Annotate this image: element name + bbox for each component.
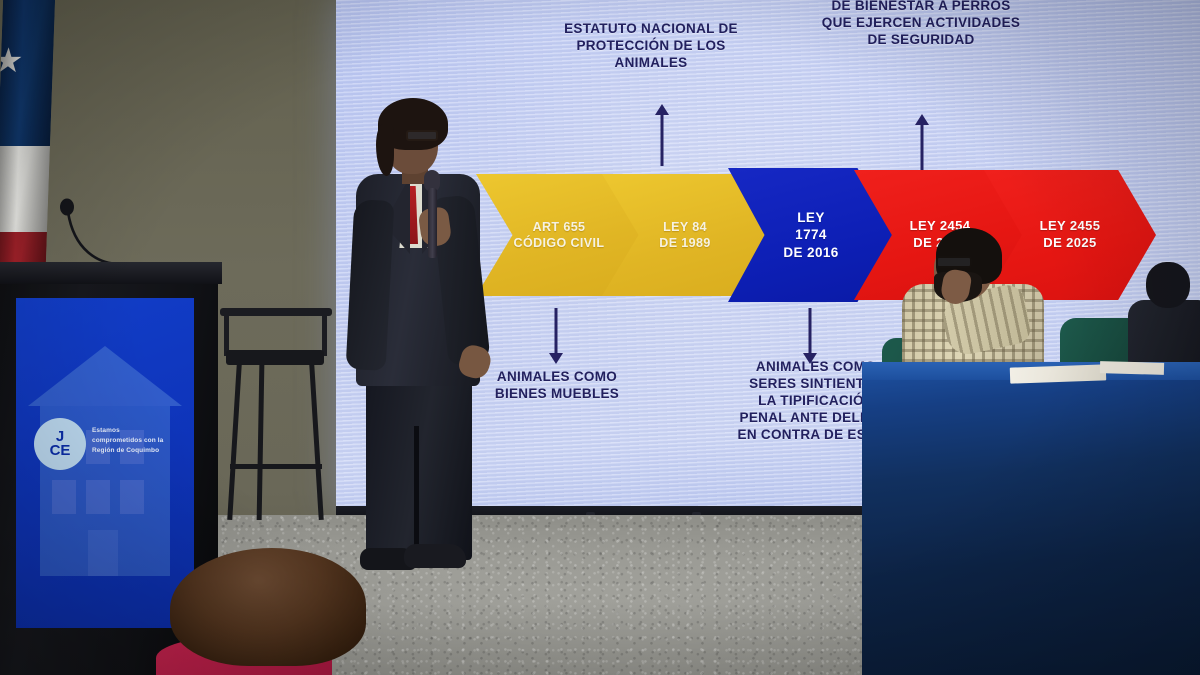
chevron-line: DE 2016: [783, 244, 838, 261]
podium-tagline: Estamos comprometidos con la Región de C…: [92, 426, 190, 456]
callout-line: ESTATUTO NACIONAL DE: [536, 20, 766, 37]
callout-line: DE SEGURIDAD: [806, 31, 1036, 48]
speaker-hair-side: [376, 124, 394, 176]
handheld-microphone-icon: [424, 170, 440, 258]
stool-rung: [230, 464, 322, 469]
audience-member-hair: [170, 548, 366, 666]
chevron-line: LEY 84: [663, 219, 707, 235]
arrow-down-bienes-muebles: [548, 308, 564, 364]
chevron-line: DE 1989: [659, 235, 710, 251]
podium-tagline-line: comprometidos con la: [92, 436, 190, 446]
arrow-up-estatuto: [654, 104, 670, 166]
callout-line: DE BIENESTAR A PERROS: [806, 0, 1036, 14]
second-panelist-head: [1146, 262, 1190, 308]
conference-photo-scene: ESTATUTO NACIONAL DE PROTECCIÓN DE LOS A…: [0, 0, 1200, 675]
chevron-line: LEY: [797, 209, 824, 226]
podium-top-surface: [0, 262, 222, 284]
panel-table-blue-drape: [862, 370, 1200, 675]
speaker-at-microphone: [344, 96, 534, 592]
mic-handle: [428, 188, 437, 258]
arrow-down-seres-sintientes: [802, 308, 818, 364]
jce-logo: J CE: [34, 418, 86, 470]
panelist-glasses-icon: [936, 256, 972, 268]
papers-on-table: [1010, 364, 1106, 383]
chevron-line: ART 655: [533, 219, 586, 235]
stool-leg: [227, 364, 242, 520]
papers-on-table: [1100, 361, 1164, 375]
speaker-shoe: [404, 544, 466, 568]
chevron-line: 1774: [795, 226, 827, 243]
arrow-up-proteccion-perros: [914, 114, 930, 170]
stool-back-post: [322, 312, 327, 356]
gooseneck-microphone-icon: [58, 198, 128, 270]
podium-tagline-line: Estamos: [92, 426, 190, 436]
callout-proteccion-perros: PROTECCIÓN Y GARANTÍAS DE BIENESTAR A PE…: [806, 0, 1036, 48]
bar-stool: [214, 294, 344, 526]
speaker-legs: [366, 378, 472, 560]
stool-seat: [226, 350, 324, 365]
speaker-glasses-icon: [406, 130, 438, 141]
callout-line: ANIMALES: [536, 54, 766, 71]
callout-line: PROTECCIÓN DE LOS: [536, 37, 766, 54]
callout-line: QUE EJERCEN ACTIVIDADES: [806, 14, 1036, 31]
stool-leg: [257, 364, 265, 520]
stool-back-rail: [220, 308, 332, 316]
jce-logo-line: CE: [50, 444, 71, 458]
speaker-leg-split: [414, 426, 419, 556]
audience-member-foreground: [156, 548, 386, 675]
podium-tagline-line: Región de Coquimbo: [92, 446, 190, 456]
callout-estatuto-nacional: ESTATUTO NACIONAL DE PROTECCIÓN DE LOS A…: [536, 20, 766, 71]
stool-leg: [309, 364, 324, 520]
